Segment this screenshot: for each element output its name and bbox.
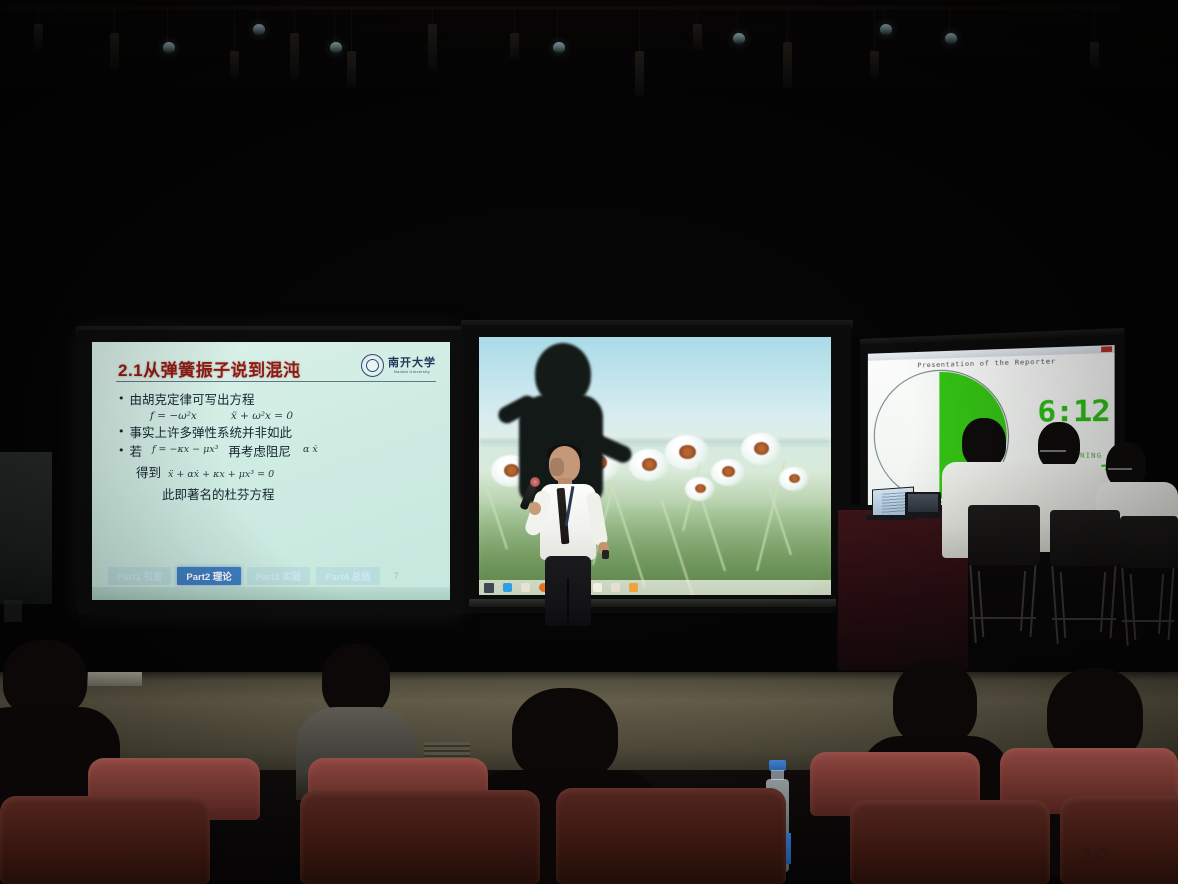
nankai-seal-icon [361,354,384,377]
lamp-hanger [949,8,950,35]
slide-tab-3[interactable]: Part3 实验 [247,567,310,585]
presenter-leg-split [567,578,569,626]
bullet-marker: • [118,443,125,461]
chair-rail [970,617,1036,619]
lighting-truss [0,6,1178,10]
stage-light-on [253,24,265,35]
bullet-marker: • [118,391,125,409]
bullet-item-1: • 由胡克定律可写出方程 [118,391,434,409]
bullet-marker: • [118,424,125,442]
auditorium-seat-front-4[interactable] [850,800,1050,884]
bullet-text: 若 [130,443,143,461]
slide-tab-2[interactable]: Part2 理论 [177,567,240,585]
lamp-hanger [114,8,115,35]
slide-bullet-list: • 由胡克定律可写出方程 f = −ω²x ẍ + ω²x = 0 • 事实上许… [118,391,434,503]
lamp-hanger [294,8,295,35]
slide-page-number: 7 [394,571,399,581]
chair-leg [1109,566,1116,638]
flower-center [695,484,706,494]
lamp-hanger [514,8,515,35]
side-object [4,600,22,622]
chair-leg [1121,568,1128,646]
clicker-icon [602,550,609,559]
slide-section-tabs: Part1 引言Part2 理论Part3 实验Part4 总结 7 [92,567,450,584]
stage-light-off [870,51,879,77]
equation-5: ẍ + αẋ + κx + μx³ = 0 [168,469,274,480]
flower-center [679,445,696,459]
auditorium-seat-front-1[interactable] [0,796,210,884]
bullet-item-2: • 事实上许多弹性系统并非如此 [118,424,434,442]
presenter [522,446,626,626]
start-icon[interactable] [484,583,494,593]
slide-conclusion: 此即著名的杜芬方程 [118,484,434,503]
stage-light-on [945,33,957,44]
presenter-hand-left [529,502,541,515]
stage-light-on [733,33,745,44]
flower-center [754,442,769,455]
stage-light-on [330,42,342,53]
equation-3-tail: 再考虑阻尼 [228,443,291,461]
stage-light-off [428,24,437,70]
chair-rail [1052,618,1116,620]
stage-light-off [290,33,299,79]
judge-head [1038,422,1080,470]
chair-leg [1060,572,1067,638]
stage-chair-2 [1050,510,1120,666]
chair-leg [1100,572,1106,632]
stage-light-on [553,42,565,53]
slide-tab-1[interactable]: Part1 引言 [108,567,171,585]
bullet-text: 事实上许多弹性系统并非如此 [130,424,293,442]
chair-rail [1122,620,1174,622]
lamp-hanger [351,8,352,53]
university-logo: 南开大学 Nankai University [361,354,436,377]
stage-light-off [635,51,644,97]
chair-leg [969,565,976,643]
close-icon[interactable] [1101,346,1112,352]
lamp-hanger [557,8,558,44]
chair-leg [978,571,985,637]
equation-1: f = −ω²x [150,410,197,422]
lamp-hanger [737,8,738,35]
flower-center [789,474,800,484]
presenter-face-shade [550,458,564,476]
chair-leg [1167,568,1174,640]
lamp-hanger [334,8,335,44]
equation-row-2: 得到 ẍ + αẋ + κx + μx³ = 0 [118,462,434,481]
auditorium-seat-front-3[interactable] [556,788,786,884]
logo-chinese-name: 南开大学 [388,357,436,368]
slide-tab-4[interactable]: Part4 总结 [316,567,379,585]
stage-light-off [510,33,519,59]
audience-head [3,640,87,717]
audience-head [893,660,977,746]
equation-2: ẍ + ω²x = 0 [231,410,293,422]
logo-text: 南开大学 Nankai University [388,357,436,374]
equation-row-1: f = −ω²x ẍ + ω²x = 0 [118,410,434,422]
side-whiteboard [0,452,52,604]
equation-5-lead: 得到 [136,462,161,481]
chair-back [968,505,1040,565]
chair-leg [1020,571,1026,631]
audience-head [322,644,389,716]
app-icon[interactable] [629,583,638,592]
chair-leg [1051,566,1058,644]
equation-3: f = −κx − μx³ [152,443,218,461]
stage-light-off [347,51,356,87]
stage-light-on [163,42,175,53]
lamp-hanger [787,8,788,44]
stage-light-off [230,51,239,77]
stage-light-off [693,24,702,50]
bullet-text: 由胡克定律可写出方程 [130,391,255,409]
stage-light-off [34,24,43,50]
chair-leg [1130,574,1137,640]
eyeglasses-icon [1108,468,1132,470]
slide-content: 2.1从弹簧振子说到混沌 南开大学 Nankai University • 由胡… [92,342,450,600]
chair-leg [1158,574,1164,634]
chair-back [1050,510,1120,566]
stage-chair-1 [968,505,1040,665]
stage-light-off [783,42,792,88]
chair-back [1120,516,1178,568]
laptop-2 [905,492,941,518]
stage-chair-3 [1120,516,1178,668]
logo-english-name: Nankai University [394,370,430,374]
stage-light-off [1090,42,1099,68]
bullet-item-3: • 若 f = −κx − μx³ 再考虑阻尼 α ẋ [118,443,434,461]
stage-light-off [110,33,119,69]
auditorium-seat-front-2[interactable] [300,790,540,884]
auditorium-seat-front-5[interactable] [1060,796,1178,884]
chair-leg [1029,565,1036,637]
lamp-hanger [167,8,168,44]
stage-light-on [880,24,892,35]
damping-term: α ẋ [303,443,318,461]
title-divider [116,381,436,382]
slide-footer-band [92,587,450,600]
left-projection-screen: 2.1从弹簧振子说到混沌 南开大学 Nankai University • 由胡… [78,330,463,614]
seat-number-label: 10 [1082,846,1110,866]
browser-icon[interactable] [503,583,512,592]
lamp-hanger [874,8,875,53]
lamp-hanger [1094,8,1095,44]
audience-head [512,688,618,782]
lamp-hanger [234,8,235,53]
judge-head [962,418,1006,468]
microphone-head [530,477,540,487]
tab-group: Part1 引言Part2 理论Part3 实验Part4 总结 [108,567,380,585]
seat-number-label: 8 [520,850,534,870]
lamp-hanger [639,8,640,53]
auditorium-scene: 2.1从弹簧振子说到混沌 南开大学 Nankai University • 由胡… [0,0,1178,884]
slide-title: 2.1从弹簧振子说到混沌 [118,356,301,381]
eyeglasses-icon [1040,450,1066,452]
